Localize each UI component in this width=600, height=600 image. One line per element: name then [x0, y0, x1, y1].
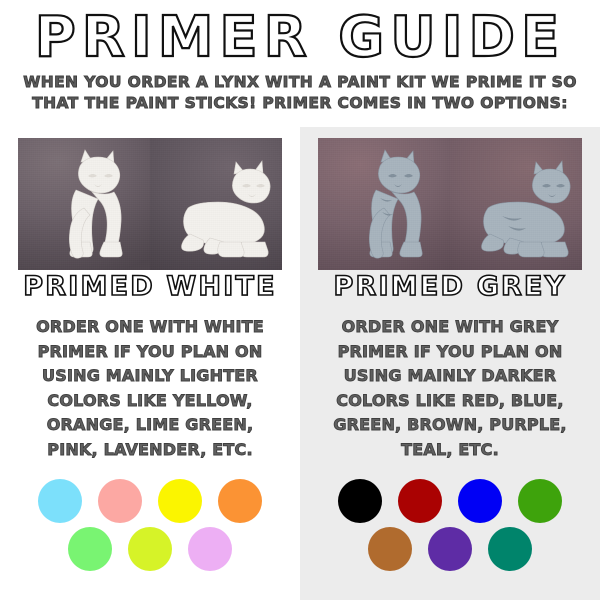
primed-grey-swatches — [300, 479, 600, 571]
swatch-lavender — [188, 527, 232, 571]
primed-white-description: ORDER ONE WITH WHITE PRIMER IF YOU PLAN … — [6, 315, 294, 462]
grey-lynx-sitting-photo — [318, 138, 450, 270]
grey-lynx-lying-photo — [450, 138, 582, 270]
swatch-lime-green — [128, 527, 172, 571]
grey-body-line-5: GREEN, BROWN, PURPLE, — [306, 413, 594, 438]
page-title: PRIMER GUIDE — [0, 0, 600, 66]
grey-swatch-row-1 — [300, 479, 600, 523]
grey-body-line-2: PRIMER IF YOU PLAN ON — [306, 340, 594, 365]
grey-body-line-6: TEAL, ETC. — [306, 438, 594, 463]
grey-body-line-4: COLORS LIKE RED, BLUE, — [306, 389, 594, 414]
primed-white-swatches — [0, 479, 300, 571]
column-primed-grey: PRIMED GREY PRIMED GREY ORDER ONE WITH G… — [300, 127, 600, 600]
white-body-line-3: USING MAINLY LIGHTER — [6, 364, 294, 389]
primed-white-heading: PRIMED WHITE — [0, 273, 300, 300]
swatch-dark-red — [398, 479, 442, 523]
page-header: PRIMER GUIDE PRIMER GUIDE — [0, 0, 600, 66]
primer-guide-page: PRIMER GUIDE PRIMER GUIDE WHEN YOU ORDER… — [0, 0, 600, 600]
swatch-light-green — [68, 527, 112, 571]
swatch-salmon-pink — [98, 479, 142, 523]
grey-body-line-3: USING MAINLY DARKER — [306, 364, 594, 389]
swatch-teal — [488, 527, 532, 571]
swatch-blue — [458, 479, 502, 523]
white-body-line-4: COLORS LIKE YELLOW, — [6, 389, 294, 414]
primed-grey-heading: PRIMED GREY — [300, 273, 600, 300]
white-swatch-row-1 — [0, 479, 300, 523]
primed-grey-description: ORDER ONE WITH GREY PRIMER IF YOU PLAN O… — [306, 315, 594, 462]
swatch-purple — [428, 527, 472, 571]
page-subtitle: WHEN YOU ORDER A LYNX WITH A PAINT KIT W… — [0, 72, 600, 114]
subtitle-line-2: THAT THE PAINT STICKS! PRIMER COMES IN T… — [0, 93, 600, 114]
swatch-orange — [218, 479, 262, 523]
swatch-yellow — [158, 479, 202, 523]
white-lynx-sitting-photo — [18, 138, 150, 270]
lynx-lying-figure-icon — [150, 138, 282, 270]
column-primed-white: PRIMED WHITE PRIMED WHITE ORDER ONE WITH… — [0, 127, 300, 600]
lynx-lying-figure-icon — [450, 138, 582, 270]
grey-body-line-1: ORDER ONE WITH GREY — [306, 315, 594, 340]
lynx-sitting-figure-icon — [318, 138, 450, 270]
swatch-brown — [368, 527, 412, 571]
grey-swatch-row-2 — [300, 527, 600, 571]
white-body-line-6: PINK, LAVENDER, ETC. — [6, 438, 294, 463]
white-body-line-1: ORDER ONE WITH WHITE — [6, 315, 294, 340]
white-body-line-2: PRIMER IF YOU PLAN ON — [6, 340, 294, 365]
white-lynx-lying-photo — [150, 138, 282, 270]
white-body-line-5: ORANGE, LIME GREEN, — [6, 413, 294, 438]
swatch-black — [338, 479, 382, 523]
subtitle-line-1: WHEN YOU ORDER A LYNX WITH A PAINT KIT W… — [0, 72, 600, 93]
primed-white-photo-strip — [18, 138, 282, 270]
primed-grey-photo-strip — [318, 138, 582, 270]
white-swatch-row-2 — [0, 527, 300, 571]
swatch-sky-blue — [38, 479, 82, 523]
lynx-sitting-figure-icon — [18, 138, 150, 270]
swatch-green — [518, 479, 562, 523]
page-title-wrap: PRIMER GUIDE PRIMER GUIDE — [0, 0, 600, 66]
